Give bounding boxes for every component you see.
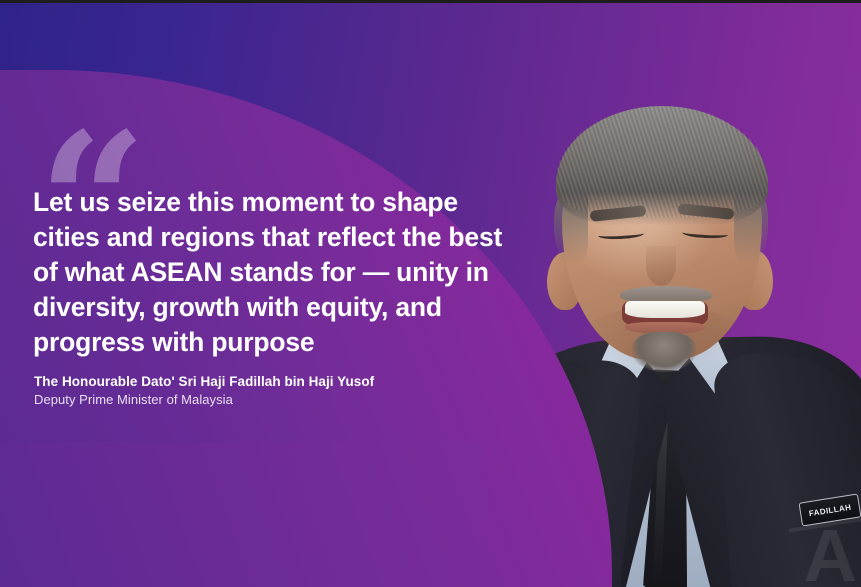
portrait-nose — [646, 246, 676, 286]
portrait-hair-texture — [556, 106, 768, 218]
attribution-name: The Honourable Dato' Sri Haji Fadillah b… — [34, 374, 494, 389]
quote-body: Let us seize this moment to shape cities… — [33, 185, 503, 360]
attribution: The Honourable Dato' Sri Haji Fadillah b… — [34, 374, 494, 407]
quote-slide: FADILLAH A “ Let us seize this moment to… — [0, 0, 861, 587]
portrait-goatee — [632, 332, 696, 372]
top-strip — [0, 0, 861, 3]
quote-text: Let us seize this moment to shape cities… — [33, 185, 503, 360]
watermark-letter: A — [804, 519, 855, 587]
attribution-role: Deputy Prime Minister of Malaysia — [34, 392, 494, 407]
quote-panel-lower-block — [0, 442, 482, 587]
portrait-teeth — [625, 301, 705, 318]
